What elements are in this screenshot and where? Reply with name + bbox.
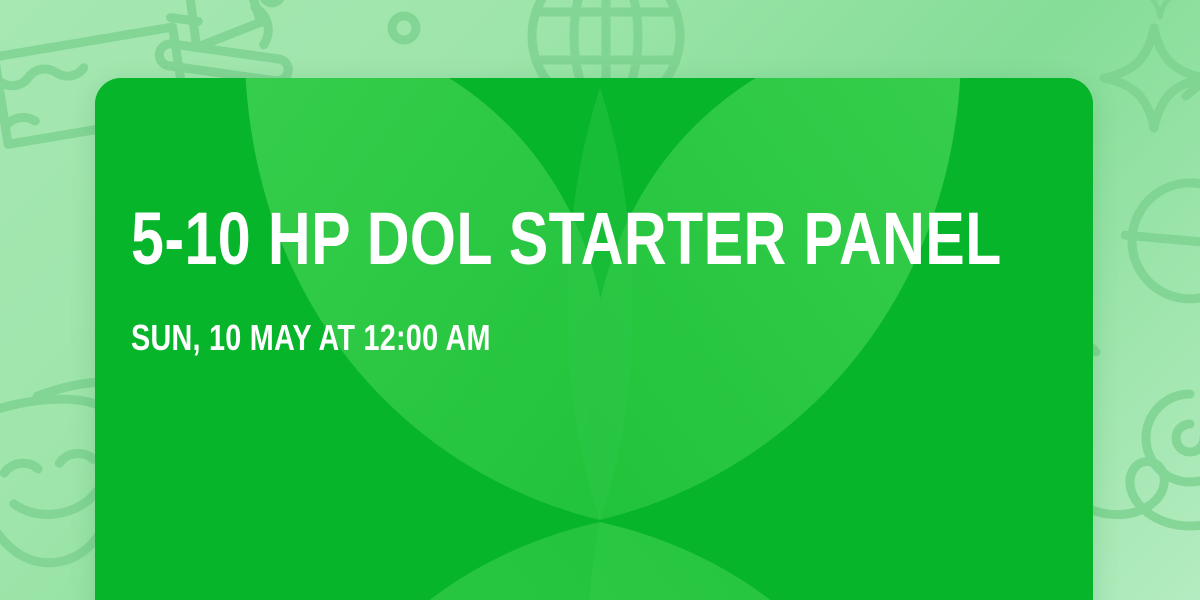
microphone-icon — [1108, 159, 1200, 373]
sparkle-icon — [1133, 0, 1188, 17]
event-card[interactable]: 5-10 HP DOL STARTER PANEL SUN, 10 MAY AT… — [95, 78, 1093, 600]
event-datetime: SUN, 10 MAY AT 12:00 AM — [131, 320, 851, 356]
sparkle-icon — [1104, 28, 1200, 128]
confetti-popper-icon — [158, 0, 301, 82]
dot-icon — [263, 0, 416, 40]
card-text-block: 5-10 HP DOL STARTER PANEL SUN, 10 MAY AT… — [131, 202, 1031, 356]
event-title: 5-10 HP DOL STARTER PANEL — [131, 202, 851, 276]
event-banner: 5-10 HP DOL STARTER PANEL SUN, 10 MAY AT… — [0, 0, 1200, 600]
